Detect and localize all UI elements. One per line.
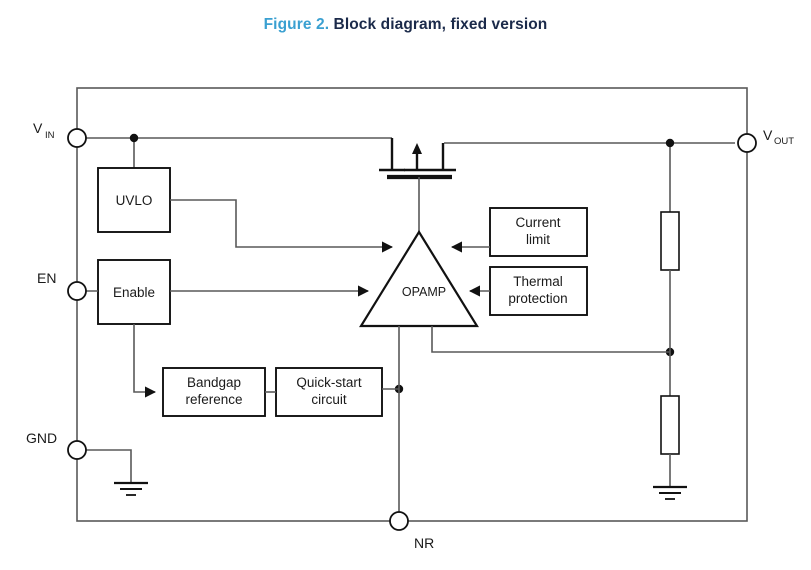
pin-vin-terminal[interactable] [68, 129, 86, 147]
block-current-limit: Current limit [490, 208, 587, 256]
block-uvlo: UVLO [98, 168, 170, 232]
block-diagram: UVLO Enable Bandgap reference Quick-star… [0, 0, 811, 570]
block-thermal-label-line2: protection [508, 291, 567, 306]
wire-feedback [432, 326, 670, 352]
block-bandgap-reference: Bandgap reference [163, 368, 265, 416]
feedback-resistor-lower [661, 396, 679, 487]
resistor-upper-body [661, 212, 679, 270]
block-enable-label: Enable [113, 285, 155, 300]
ground-symbol-divider [653, 487, 687, 499]
pass-transistor [379, 138, 456, 232]
block-thermal-label-line1: Thermal [513, 274, 563, 289]
pin-vout-label: V [763, 127, 773, 143]
block-quick-start-label-line1: Quick-start [296, 375, 362, 390]
pin-nr-label: NR [414, 535, 434, 551]
pin-vout-terminal[interactable] [738, 134, 756, 152]
feedback-resistor-upper [661, 212, 679, 352]
pin-gnd-label: GND [26, 430, 57, 446]
block-opamp-triangle [361, 232, 477, 326]
pin-vout-sublabel: OUT [774, 136, 794, 147]
block-opamp: OPAMP [361, 232, 477, 326]
pin-en-terminal[interactable] [68, 282, 86, 300]
junction-dot-vout-divider [666, 139, 674, 147]
block-quick-start-label-line2: circuit [311, 392, 347, 407]
pin-nr-terminal[interactable] [390, 512, 408, 530]
block-quick-start: Quick-start circuit [276, 368, 382, 416]
block-thermal-protection: Thermal protection [490, 267, 587, 315]
wire-enable-to-bandgap [134, 324, 155, 392]
mosfet-bulk-arrow [412, 143, 422, 154]
pin-vin-label: V [33, 120, 43, 136]
block-uvlo-label: UVLO [116, 193, 153, 208]
block-current-limit-label-line2: limit [526, 232, 550, 247]
pin-en-label: EN [37, 270, 56, 286]
block-current-limit-label-line1: Current [515, 215, 560, 230]
block-bandgap-label-line1: Bandgap [187, 375, 241, 390]
pin-gnd-terminal[interactable] [68, 441, 86, 459]
ground-symbol-gnd [114, 483, 148, 495]
wire-uvlo-to-opamp [170, 200, 392, 247]
block-opamp-label: OPAMP [402, 285, 446, 299]
resistor-lower-body [661, 396, 679, 454]
pin-vin-sublabel: IN [45, 130, 55, 141]
pin-label-vin: V IN [33, 120, 55, 141]
junction-dot-vin [130, 134, 138, 142]
block-enable: Enable [98, 260, 170, 324]
block-bandgap-label-line2: reference [185, 392, 242, 407]
pin-label-vout: V OUT [763, 127, 794, 147]
